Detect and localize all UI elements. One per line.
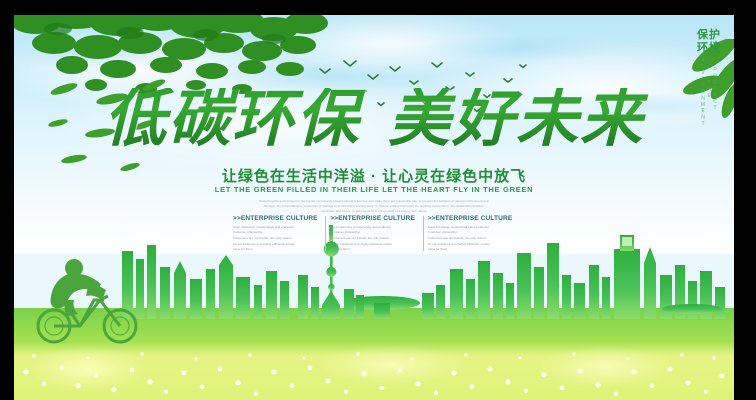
page-title: 低碳环保美好未来 [14,88,734,150]
side-label: 保护环境 PROTECT THE ENVIRONMENT [696,29,722,121]
headline-right: 美好未来 [388,82,644,155]
culture-column: >>ENTERPRISE CULTURE Keep improving, uns… [325,215,422,253]
culture-column-body: Keep improving, unswervingly and endless… [233,225,320,254]
meadow-glow-center [316,345,466,385]
enterprise-culture-columns: >>ENTERPRISE CULTURE Keep improving, uns… [228,215,520,253]
culture-column-heading: >>ENTERPRISE CULTURE [233,215,320,222]
subtitle-english: LET THE GREEN FILLED IN THEIR LIFE LET T… [14,185,734,194]
culture-column-heading: >>ENTERPRISE CULTURE [428,215,515,222]
headline-left: 低碳环保 [104,82,360,155]
subtitle-chinese: 让绿色在生活中洋溢 · 让心灵在绿色中放飞 [14,165,734,186]
culture-column-body: Keep improving, unswervingly and endless… [330,225,417,254]
culture-body-line: value for them [233,247,320,253]
culture-body-line: value for them [330,247,417,253]
side-label-english: PROTECT THE ENVIRONMENT [700,57,718,121]
culture-column-body: Keep improving, unswervingly and endless… [428,225,515,254]
culture-column: >>ENTERPRISE CULTURE Keep improving, uns… [228,215,325,253]
intro-paragraph-line: coordinate and nature, to get people to … [229,209,519,214]
culture-column-heading: >>ENTERPRISE CULTURE [330,215,417,222]
intro-paragraph: Protecting the environment is the human … [229,199,519,214]
poster-canvas: 低碳环保美好未来 让绿色在生活中洋溢 · 让心灵在绿色中放飞 LET THE G… [14,15,734,400]
poster-frame: 低碳环保美好未来 让绿色在生活中洋溢 · 让心灵在绿色中放飞 LET THE G… [0,0,756,400]
culture-body-line: value for them [428,247,515,253]
side-label-chinese: 保护环境 [696,29,722,54]
cyclist-silhouette [28,256,148,348]
culture-column: >>ENTERPRISE CULTURE Keep improving, uns… [423,215,520,253]
